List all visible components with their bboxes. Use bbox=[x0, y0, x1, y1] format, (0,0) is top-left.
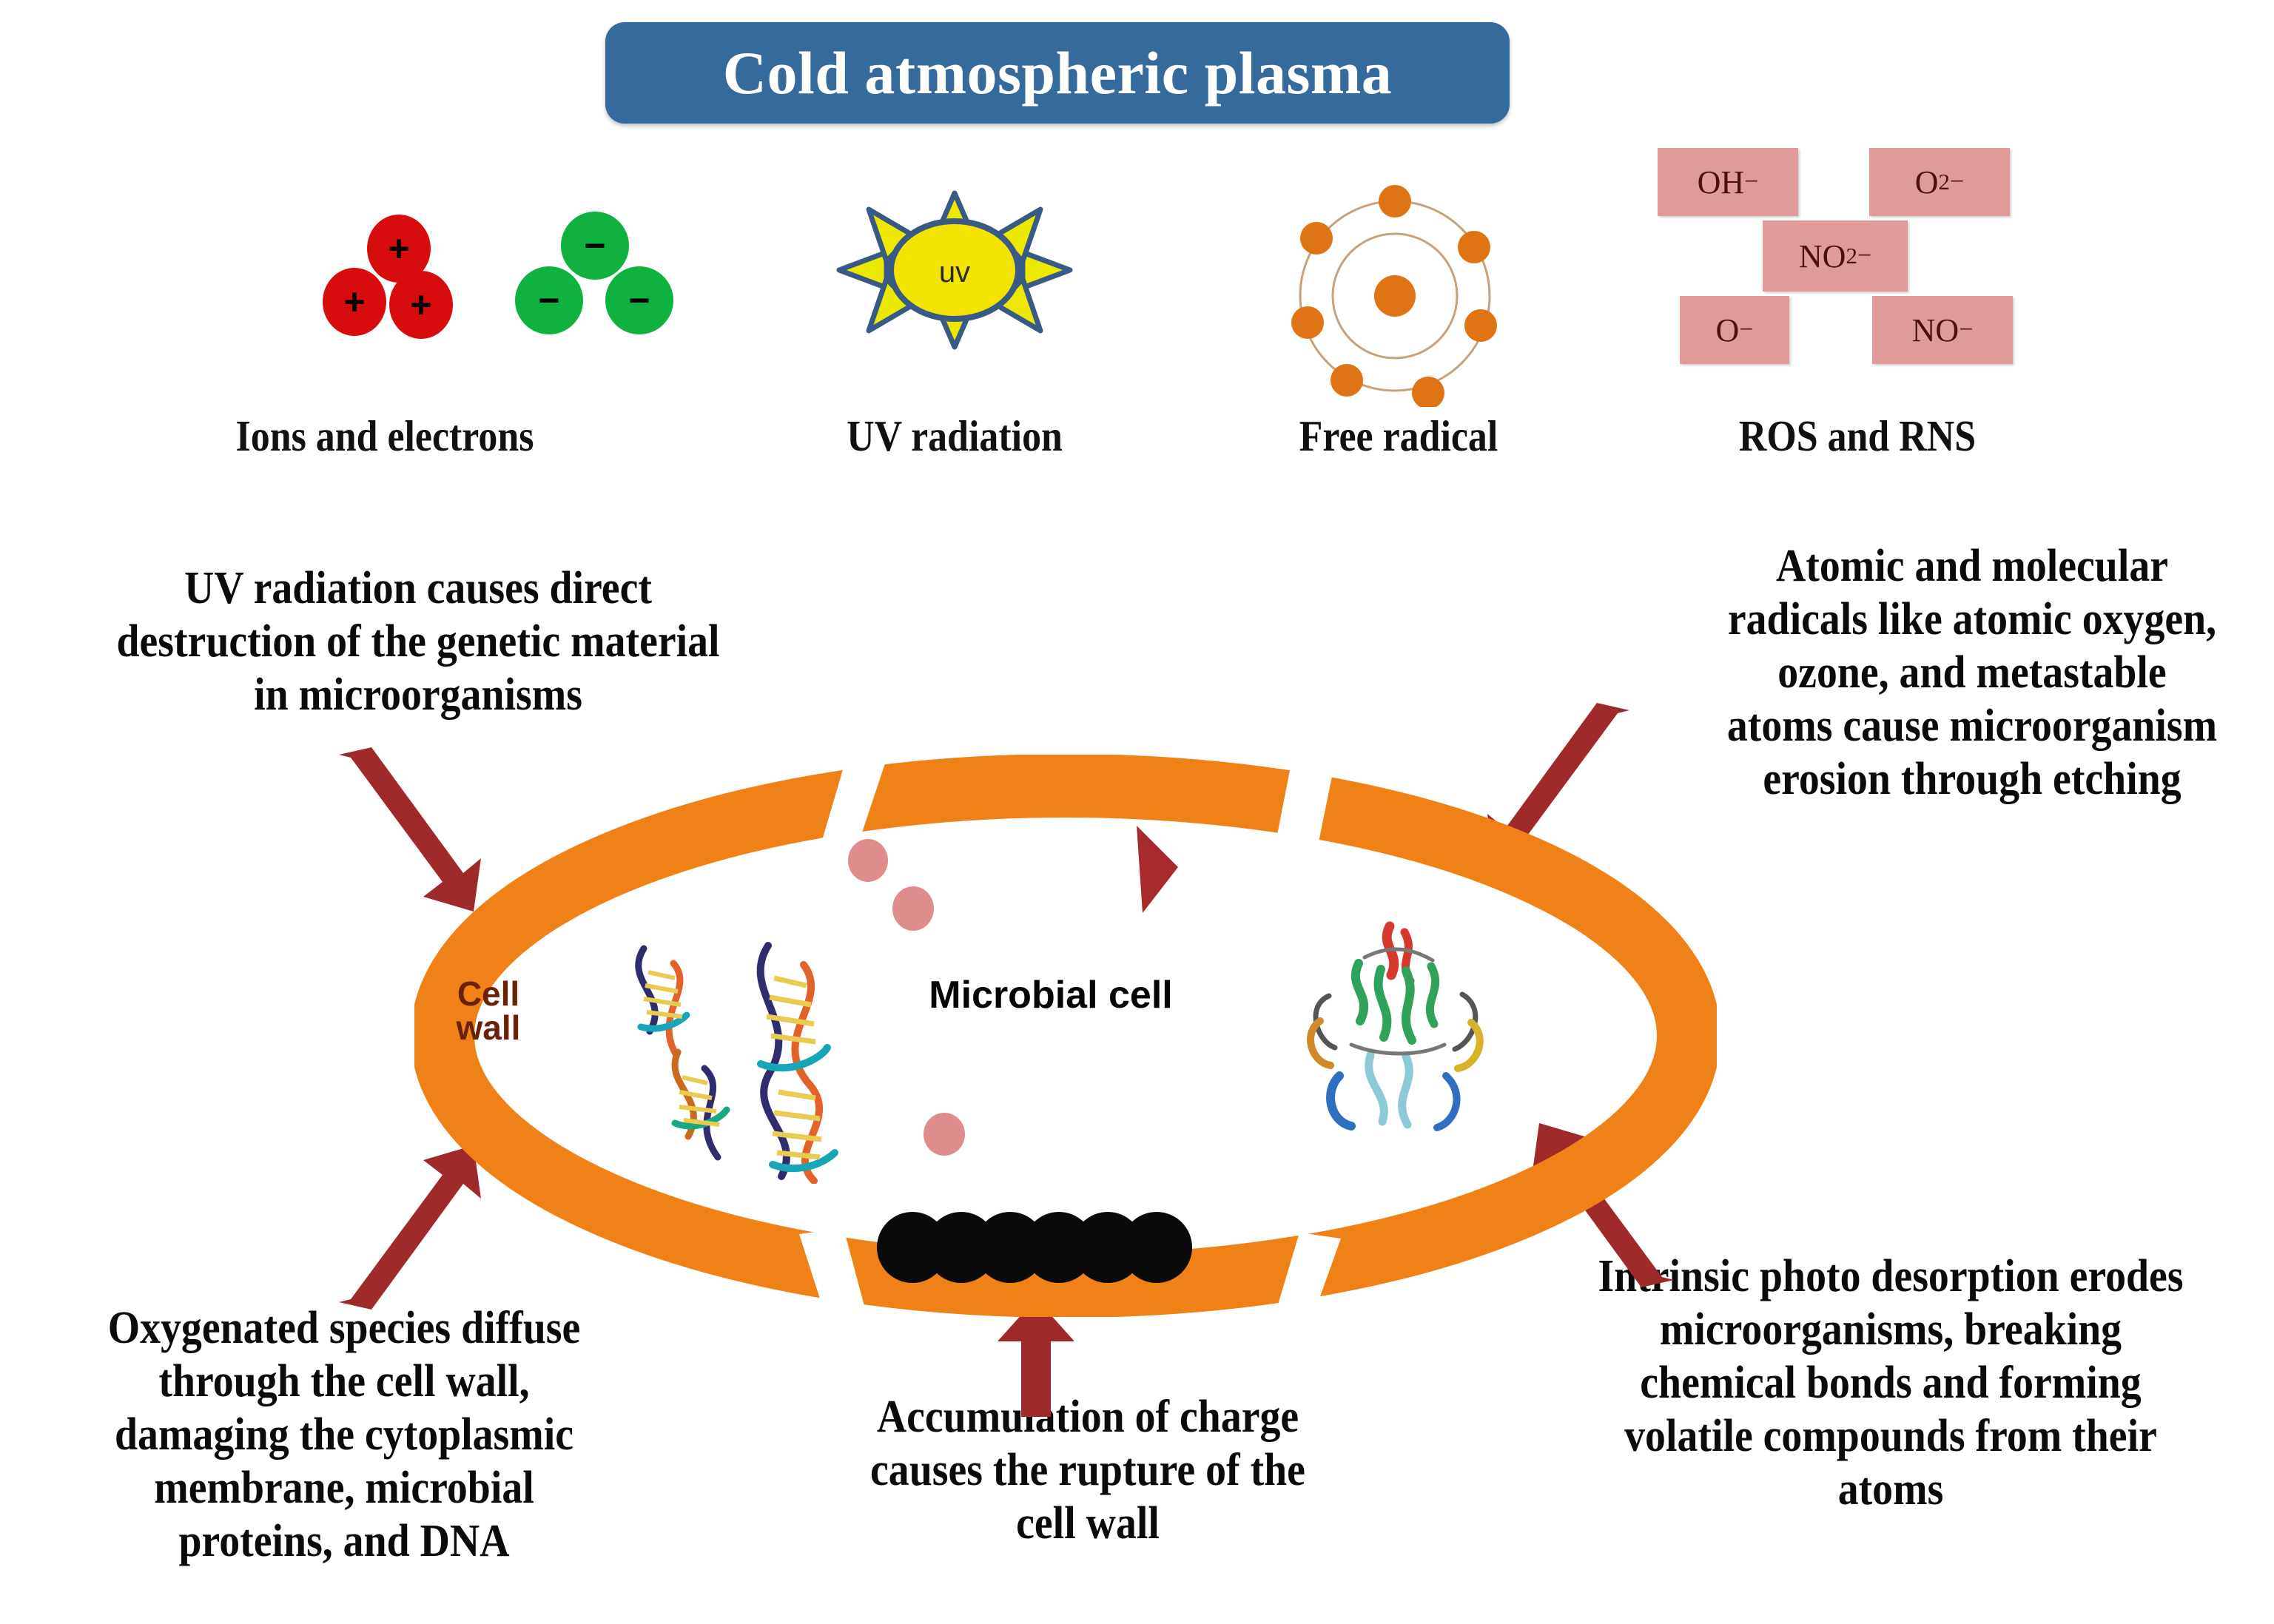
positive-ions-group: + + + bbox=[318, 215, 496, 363]
electron: − bbox=[561, 212, 629, 280]
electron: − bbox=[605, 266, 673, 334]
text-line: proteins, and DNA bbox=[41, 1515, 647, 1569]
vesicle bbox=[848, 839, 888, 882]
ros-subscript: 2 bbox=[1939, 169, 1951, 195]
text-line: through the cell wall, bbox=[41, 1355, 647, 1409]
ros-formula: O bbox=[1915, 164, 1939, 201]
mechanism-uv-destruction: UV radiation causes direct destruction o… bbox=[82, 562, 755, 722]
text-line: volatile compounds from their bbox=[1561, 1410, 2221, 1463]
text-line: membrane, microbial bbox=[41, 1462, 647, 1515]
ros-charge: − bbox=[1744, 168, 1758, 196]
uv-radiation-label: UV radiation bbox=[713, 411, 1195, 462]
ros-subscript: 2 bbox=[1846, 243, 1857, 269]
cell-wall-label: Cell wall bbox=[440, 977, 536, 1045]
negative-electrons-group: − − − bbox=[512, 215, 690, 363]
text-line: damaging the cytoplasmic bbox=[41, 1409, 647, 1462]
ros-formula: O bbox=[1716, 311, 1740, 349]
mechanism-charge-accumulation: Accumulation of charge causes the ruptur… bbox=[801, 1391, 1374, 1551]
ros-species-o: O− bbox=[1680, 296, 1789, 364]
free-radical-icon bbox=[1273, 185, 1517, 407]
text-line: ozone, and metastable bbox=[1696, 647, 2249, 700]
ros-charge: − bbox=[1959, 316, 1973, 344]
ros-species-oh: OH− bbox=[1658, 148, 1798, 216]
ros-charge: − bbox=[1950, 168, 1964, 196]
ions-and-electrons-label: Ions and electrons bbox=[144, 411, 625, 462]
text-line: UV radiation causes direct bbox=[82, 562, 755, 616]
text-line: Accumulation of charge bbox=[801, 1391, 1374, 1444]
vesicle bbox=[892, 886, 934, 931]
ros-charge: − bbox=[1739, 316, 1753, 344]
uv-radiation-icon: uv bbox=[829, 189, 1080, 351]
page-title: Cold atmospheric plasma bbox=[723, 38, 1392, 108]
dna-helix-icon bbox=[733, 940, 881, 1184]
ros-species-no: NO− bbox=[1872, 296, 2013, 364]
positive-ion: + bbox=[323, 268, 386, 336]
free-radical-label: Free radical bbox=[1157, 411, 1639, 462]
protein-structure-icon bbox=[1288, 917, 1502, 1147]
mechanism-radical-etching: Atomic and molecular radicals like atomi… bbox=[1696, 540, 2249, 806]
svg-text:uv: uv bbox=[939, 256, 970, 289]
text-line: destruction of the genetic material bbox=[82, 616, 755, 669]
ros-formula: NO bbox=[1912, 311, 1960, 349]
text-line: atoms cause microorganism bbox=[1696, 700, 2249, 753]
page-title-banner: Cold atmospheric plasma bbox=[605, 22, 1510, 124]
diagram-canvas: Cold atmospheric plasma + + + − − − Ions… bbox=[0, 0, 2274, 1624]
text-line: radicals like atomic oxygen, bbox=[1696, 593, 2249, 647]
ros-and-rns-icon: OH− O2− NO2− O− NO− bbox=[1650, 148, 2050, 392]
charge-accumulation-dots bbox=[877, 1212, 1195, 1286]
electron: − bbox=[515, 266, 583, 334]
ros-species-o2: O2− bbox=[1869, 148, 2010, 216]
small-arrowhead-icon bbox=[1125, 821, 1184, 917]
ions-and-electrons-icon: + + + − − − bbox=[318, 215, 703, 377]
microbial-cell-label: Microbial cell bbox=[888, 973, 1214, 1017]
text-line: Cell bbox=[440, 977, 536, 1011]
text-line: chemical bonds and forming bbox=[1561, 1357, 2221, 1410]
ros-and-rns-label: ROS and RNS bbox=[1597, 411, 2118, 462]
mechanism-oxygenated-species: Oxygenated species diffuse through the c… bbox=[41, 1302, 647, 1569]
positive-ion: + bbox=[389, 271, 453, 339]
text-line: causes the rupture of the bbox=[801, 1444, 1374, 1497]
vesicle bbox=[924, 1113, 965, 1156]
ros-species-no2: NO2− bbox=[1763, 220, 1908, 292]
text-line: atoms bbox=[1561, 1463, 2221, 1517]
ros-charge: − bbox=[1857, 242, 1871, 270]
charge-dot bbox=[1121, 1212, 1192, 1283]
ros-formula: NO bbox=[1799, 237, 1846, 275]
text-line: Atomic and molecular bbox=[1696, 540, 2249, 593]
text-line: wall bbox=[440, 1011, 536, 1045]
text-line: cell wall bbox=[801, 1497, 1374, 1551]
ros-formula: OH bbox=[1698, 164, 1745, 201]
text-line: in microorganisms bbox=[82, 669, 755, 722]
text-line: erosion through etching bbox=[1696, 753, 2249, 806]
